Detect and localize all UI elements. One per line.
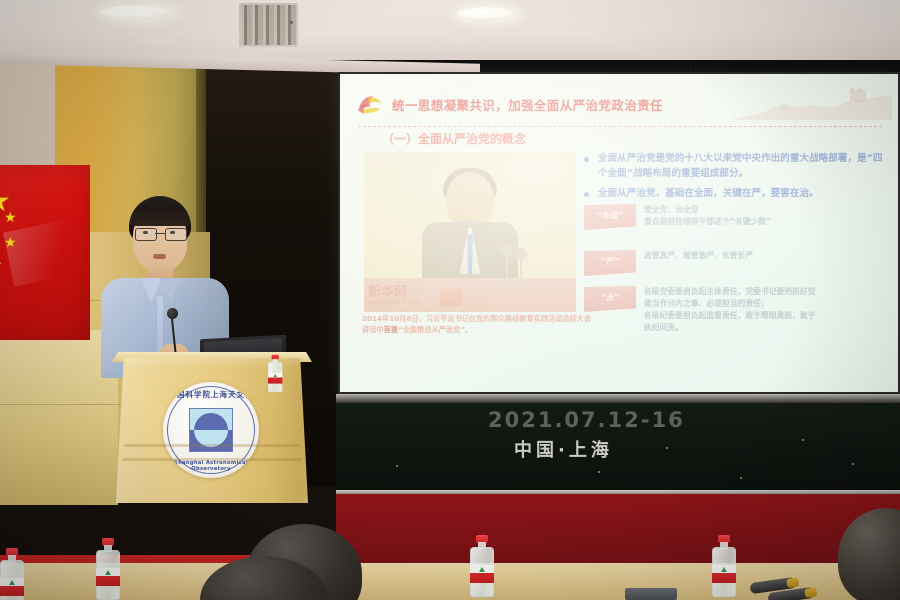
speaker-eyebrow (165, 223, 183, 226)
slide-flag-row: “严” 真管真严、敢管敢严、长管长严 (584, 250, 886, 276)
projection-screen-bottom-bar (336, 394, 900, 403)
slide-photo-caption: 2014年10月8日，习近平总书记在党的群众路线教育实践活动总结大会讲话中首提“… (362, 314, 594, 336)
photo-watermark-url: WWW.NEWS.CN (368, 300, 419, 306)
slide-flag-row-line: 各级党委要肩负起主体责任，党委书记要把抓好党 (644, 286, 886, 298)
water-bottle-icon (268, 355, 282, 392)
slide-flag-row: “全面” 管全党、治全党 重点是抓住领导干部这个“关键少数” (584, 204, 886, 230)
document-on-table (625, 588, 677, 600)
glasses-lens (165, 228, 187, 241)
downlight-icon (128, 36, 184, 46)
backdrop-sparkle (666, 447, 668, 449)
flag-sheen (3, 218, 83, 286)
mini-flag-label: “治” (584, 292, 636, 303)
glasses-icon (135, 228, 185, 239)
photo-microphone-icon (515, 248, 527, 260)
caption-highlight: 首提 (384, 325, 398, 334)
slide-subtitle: （一）全面从严治党的概念 (382, 130, 526, 147)
backdrop-sparkle (396, 465, 398, 467)
conference-date: 2021.07.12-16 (488, 408, 685, 432)
backdrop-sparkle (598, 471, 600, 473)
downlight-icon (435, 36, 485, 45)
slide-header-divider (358, 126, 882, 127)
slide-title: 统一思想凝聚共识，加强全面从严治党政治责任 (392, 95, 663, 114)
mini-flag-label: “严” (584, 256, 636, 267)
great-wall-illustration-icon (732, 86, 892, 124)
caption-suffix: “全面推进从严治党”。 (398, 325, 472, 334)
conference-location: 中国·上海 (514, 436, 613, 462)
glasses-bridge (155, 233, 165, 234)
slide-flag-row-line: 真管真严、敢管敢严、长管长严 (644, 250, 886, 262)
water-bottle-icon (712, 535, 736, 597)
photo-watermark: 新华网 WWW.NEWS.CN (368, 281, 419, 306)
mini-flag-label: “全面” (584, 210, 636, 221)
water-bottle-icon (96, 538, 120, 600)
downlight-icon (100, 5, 178, 19)
backdrop-sparkle (802, 439, 804, 441)
flag-star-small: ★ (4, 235, 17, 249)
slide-flag-row: “治” 各级党委要肩负起主体责任，党委书记要把抓好党 建当作分内之事、必须担当的… (584, 286, 886, 334)
slide-flag-row-line: 执纪问责。 (644, 322, 886, 334)
bottle-label (0, 578, 24, 596)
logo-english-name: Shanghai Astronomical Observatory (163, 460, 259, 472)
logo-circle (194, 413, 228, 447)
china-flag-icon: ★ ★ ★ ★ (0, 165, 90, 340)
slide-flag-row-line: 建当作分内之事、必须担当的责任； (644, 298, 886, 310)
flag-star-small: ★ (4, 210, 17, 224)
conference-backdrop: 2021.07.12-16 中国·上海 (336, 403, 900, 495)
conference-hall-photo: ★ ★ ★ ★ 统一思想凝聚共识，加强全面从严治党政治责任 (0, 0, 900, 600)
speaker-eyebrow (137, 223, 155, 226)
projection-screen: 统一思想凝聚共识，加强全面从严治党政治责任 （一）全面从严治党的概念 (340, 74, 898, 392)
slide-flag-row-text: 管全党、治全党 重点是抓住领导干部这个“关键少数” (644, 204, 886, 228)
backdrop-sparkle (740, 477, 742, 479)
slide-bullet-list: 全面从严治党是党的十八大以来党中央作出的重大战略部署，是“四个全面”战略布局的重… (584, 152, 884, 207)
slide-flag-row-text: 真管真严、敢管敢严、长管长严 (644, 250, 886, 262)
glasses-lens (135, 228, 157, 241)
photo-teacup (440, 288, 462, 306)
photo-microphone-icon (501, 244, 513, 256)
slide-photo: 新华网 WWW.NEWS.CN (364, 152, 576, 312)
microphone-icon (167, 308, 178, 319)
cpc-party-emblem-icon (356, 93, 386, 117)
backdrop-sparkle (852, 463, 854, 465)
slide-flag-row-line: 管全党、治全党 (644, 204, 886, 216)
podium-groove (122, 458, 302, 461)
mini-flag-icon: “严” (584, 250, 636, 276)
air-vent-icon (239, 3, 298, 47)
downlight-icon (457, 7, 519, 20)
podium-groove (124, 444, 300, 447)
mini-flag-icon: “全面” (584, 204, 636, 230)
mini-flag-icon: “治” (584, 286, 636, 312)
flag-star-small: ★ (0, 257, 3, 271)
logo-chinese-name: 中国科学院上海天文台 (163, 389, 259, 400)
bottle-label (268, 373, 282, 384)
slide-flag-row-line: 重点是抓住领导干部这个“关键少数” (644, 216, 886, 228)
bottle-label (96, 568, 120, 586)
slide-flag-row-text: 各级党委要肩负起主体责任，党委书记要把抓好党 建当作分内之事、必须担当的责任； … (644, 286, 886, 334)
shao-logo-icon: 中国科学院上海天文台 Shanghai Astronomical Observa… (163, 382, 259, 478)
photo-head (446, 172, 494, 228)
slide-bullet: 全面从严治党，基础在全面，关键在严，要害在治。 (584, 187, 884, 202)
backdrop-sparkle (546, 453, 548, 455)
water-bottle-icon (470, 535, 494, 597)
bottle-label (470, 565, 494, 583)
water-bottle-icon (0, 548, 24, 600)
bottle-label (712, 565, 736, 583)
slide-flag-row-line: 各级纪委要担负起监督责任，敢于瞪眼黑脸，敢于 (644, 310, 886, 322)
slide-bullet: 全面从严治党是党的十八大以来党中央作出的重大战略部署，是“四个全面”战略布局的重… (584, 152, 884, 182)
photo-watermark-text: 新华网 (368, 285, 407, 300)
speaker-mouth (153, 254, 166, 259)
